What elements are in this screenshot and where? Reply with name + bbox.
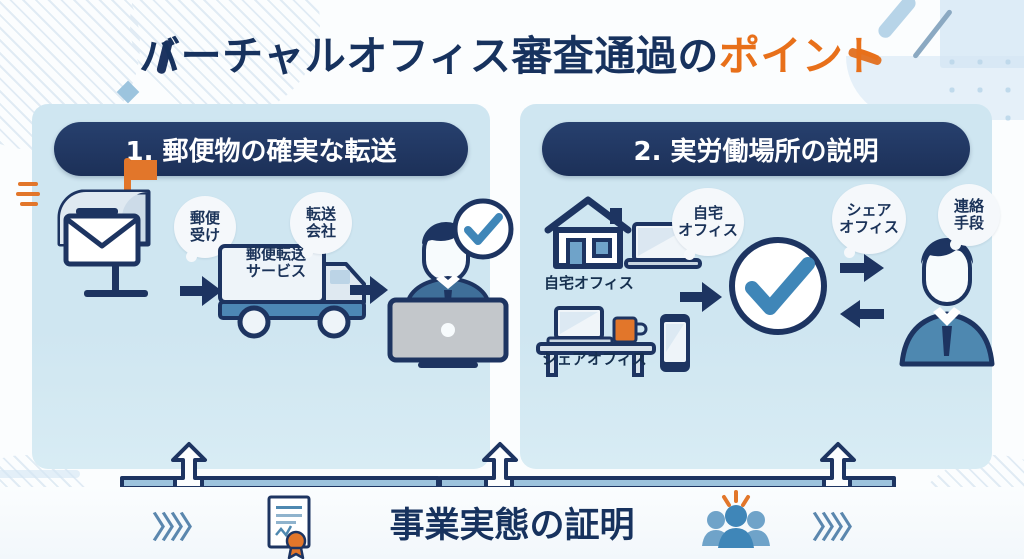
speed-lines-icon — [16, 178, 42, 214]
page-title-highlight: ポイント — [719, 32, 885, 80]
infographic-canvas: バーチャルオフィス審査通過のポイント 1. 郵便物の確実な転送 郵便受け — [0, 0, 1024, 559]
soft-rect-bottomleft — [0, 470, 80, 478]
bottom-band-title: 事業実態の証明 — [0, 497, 1024, 548]
connector-shelf-right — [438, 452, 898, 490]
arrow-right-icon-3 — [680, 282, 722, 312]
panel-workplace-explanation: 2. 実労働場所の説明 自宅オフィス 自宅オフィス — [520, 104, 992, 469]
chevrons-right-icon: 〉〉〉〉 — [812, 503, 863, 547]
check-badge-icon — [452, 198, 514, 260]
panel-2-heading: 2. 実労働場所の説明 — [542, 122, 970, 176]
arrow-right-icon-2 — [350, 276, 388, 304]
check-circle-icon — [726, 234, 830, 338]
arrow-right-icon-4 — [840, 254, 884, 282]
bubble-contact-method: 連絡手段 — [938, 184, 1000, 246]
house-icon — [544, 196, 636, 272]
smartphone-icon — [658, 312, 692, 374]
connector-shelf-left — [120, 452, 440, 490]
coffee-cup-icon — [612, 316, 646, 346]
arrow-right-icon-1 — [180, 276, 222, 306]
home-office-label: 自宅オフィス — [544, 272, 634, 293]
share-office-label: シェアオフィス — [542, 348, 647, 369]
arrow-left-icon-1 — [840, 300, 884, 328]
bubble-forwarding-company: 転送会社 — [290, 192, 352, 254]
page-title-main: バーチャルオフィス審査通過の — [139, 32, 719, 80]
page-title: バーチャルオフィス審査通過のポイント — [0, 22, 1024, 82]
panel-mail-forwarding: 1. 郵便物の確実な転送 郵便受け — [32, 104, 490, 469]
people-group-icon — [700, 490, 772, 554]
